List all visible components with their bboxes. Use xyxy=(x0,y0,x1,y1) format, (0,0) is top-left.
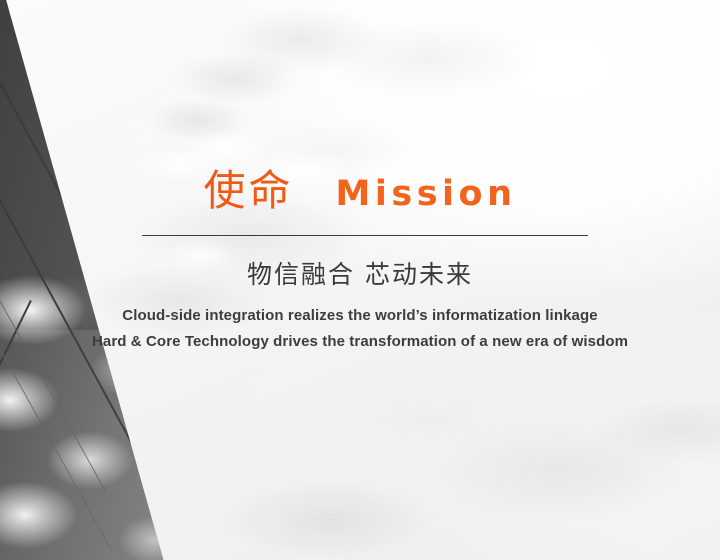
hero-description: Cloud-side integration realizes the worl… xyxy=(0,303,720,355)
title-divider-rule xyxy=(142,235,588,236)
hero-title-chinese: 使命 xyxy=(204,170,294,212)
hero-title: 使命 Mission xyxy=(0,170,720,212)
hero-title-english: Mission xyxy=(336,177,517,212)
hero-content: 使命 Mission 物信融合 芯动未来 Cloud-side integrat… xyxy=(0,0,720,560)
hero-description-line: Hard & Core Technology drives the transf… xyxy=(0,329,720,355)
mission-hero-banner: 使命 Mission 物信融合 芯动未来 Cloud-side integrat… xyxy=(0,0,720,560)
hero-subtitle-chinese: 物信融合 芯动未来 xyxy=(0,259,720,292)
hero-description-line: Cloud-side integration realizes the worl… xyxy=(0,303,720,329)
